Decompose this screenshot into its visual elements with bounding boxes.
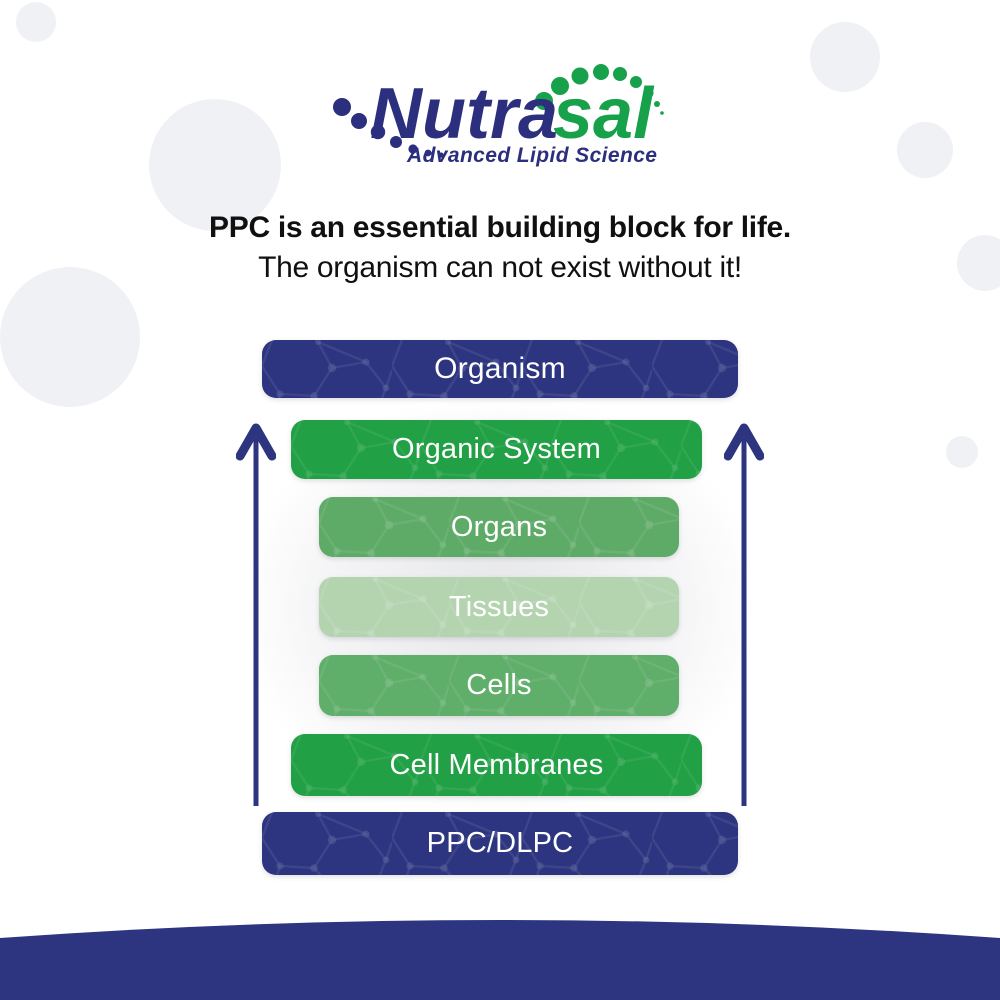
bottom-navy-band <box>0 890 1000 1000</box>
background-bubble <box>810 22 880 92</box>
ppc-hierarchy-diagram: Organism Organic System Organs Tissues C… <box>200 330 800 890</box>
pyramid-level-label: Cell Membranes <box>390 749 604 782</box>
pyramid-level-label: Organs <box>451 511 547 544</box>
logo-wordmark-nutra: Nutra <box>370 74 558 154</box>
pyramid-level-cells[interactable]: Cells <box>319 655 679 716</box>
pyramid-level-label: Organism <box>434 352 566 386</box>
logo-wordmark-sal: sal <box>553 74 655 154</box>
pyramid-level-organism[interactable]: Organism <box>262 340 738 398</box>
background-bubble <box>897 122 953 178</box>
pyramid-level-organs[interactable]: Organs <box>319 497 679 557</box>
pyramid-level-organic-system[interactable]: Organic System <box>291 420 702 479</box>
pyramid-level-tissues[interactable]: Tissues <box>319 577 679 637</box>
headline-line-1: PPC is an essential building block for l… <box>0 208 1000 248</box>
upward-arrow-left <box>236 418 276 806</box>
background-bubble <box>16 2 56 42</box>
headline-block: PPC is an essential building block for l… <box>0 208 1000 288</box>
pyramid-level-ppc-dlpc[interactable]: PPC/DLPC <box>262 812 738 875</box>
pyramid-level-label: Organic System <box>392 433 601 466</box>
background-bubble <box>0 267 140 407</box>
headline-line-2: The organism can not exist without it! <box>0 248 1000 288</box>
infographic-page: Nutra sal Advanced Lipid Science PPC is … <box>0 0 1000 1000</box>
upward-arrow-right <box>724 418 764 806</box>
pyramid-level-label: Cells <box>466 669 531 702</box>
nutrasal-logo: Nutra sal Advanced Lipid Science <box>320 38 680 168</box>
pyramid-level-label: Tissues <box>449 591 549 624</box>
logo-tagline: Advanced Lipid Science <box>406 144 657 167</box>
background-bubble <box>946 436 978 468</box>
pyramid-level-cell-membranes[interactable]: Cell Membranes <box>291 734 702 796</box>
pyramid-level-label: PPC/DLPC <box>427 827 574 860</box>
